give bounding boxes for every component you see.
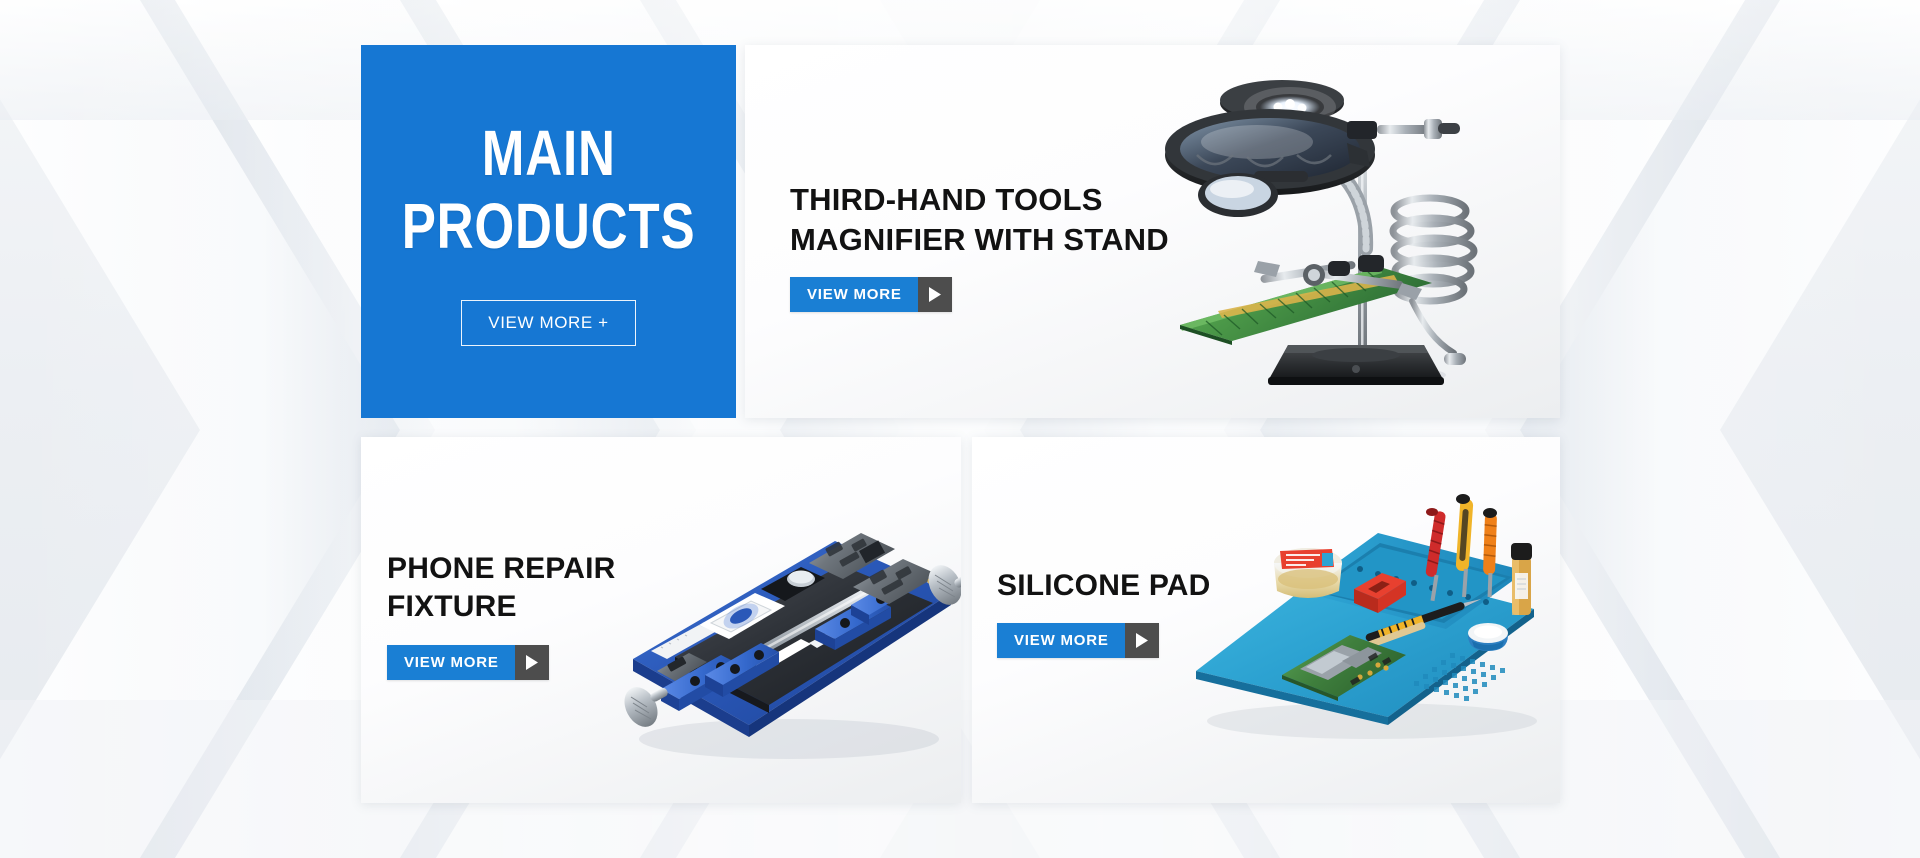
play-arrow-icon bbox=[918, 277, 952, 312]
play-arrow-icon bbox=[515, 645, 549, 680]
promo-banner-stage: MAIN PRODUCTS VIEW MORE + bbox=[0, 0, 1920, 858]
third-hand-tools-text-block: THIRD-HAND TOOLS MAGNIFIER WITH STAND VI… bbox=[790, 180, 1169, 312]
silicone-pad-heading: SILICONE PAD bbox=[997, 567, 1211, 605]
silicone-pad-card[interactable]: SILICONE PAD VIEW MORE bbox=[972, 437, 1560, 803]
third-hand-tools-card[interactable]: THIRD-HAND TOOLS MAGNIFIER WITH STAND VI… bbox=[745, 45, 1560, 418]
silicone-pad-image bbox=[1182, 485, 1552, 760]
phone-repair-fixture-text-block: PHONE REPAIR FIXTURE VIEW MORE bbox=[387, 550, 616, 680]
silicone-pad-view-more-label: VIEW MORE bbox=[997, 623, 1125, 658]
silicone-pad-text-block: SILICONE PAD VIEW MORE bbox=[997, 567, 1211, 658]
third-hand-magnifier-image bbox=[1162, 63, 1522, 403]
magnifier-illustration bbox=[1162, 63, 1522, 403]
third-hand-tools-view-more-button[interactable]: VIEW MORE bbox=[790, 277, 952, 312]
phone-repair-fixture-view-more-label: VIEW MORE bbox=[387, 645, 515, 680]
pcb-holder-fixture-illustration bbox=[603, 489, 961, 789]
phone-repair-fixture-card[interactable]: PHONE REPAIR FIXTURE VIEW MORE bbox=[361, 437, 961, 803]
phone-repair-fixture-heading: PHONE REPAIR FIXTURE bbox=[387, 550, 616, 627]
third-hand-tools-view-more-label: VIEW MORE bbox=[790, 277, 918, 312]
play-arrow-icon bbox=[1125, 623, 1159, 658]
main-products-panel[interactable]: MAIN PRODUCTS VIEW MORE + bbox=[361, 45, 736, 418]
main-products-view-more-button[interactable]: VIEW MORE + bbox=[461, 300, 635, 346]
phone-repair-fixture-view-more-button[interactable]: VIEW MORE bbox=[387, 645, 549, 680]
silicone-mat-illustration bbox=[1182, 485, 1552, 760]
third-hand-tools-heading: THIRD-HAND TOOLS MAGNIFIER WITH STAND bbox=[790, 180, 1169, 259]
phone-repair-fixture-image bbox=[603, 489, 961, 789]
main-products-title-line-2: PRODUCTS bbox=[402, 190, 696, 262]
main-products-title-line-1: MAIN bbox=[481, 117, 615, 189]
silicone-pad-view-more-button[interactable]: VIEW MORE bbox=[997, 623, 1159, 658]
